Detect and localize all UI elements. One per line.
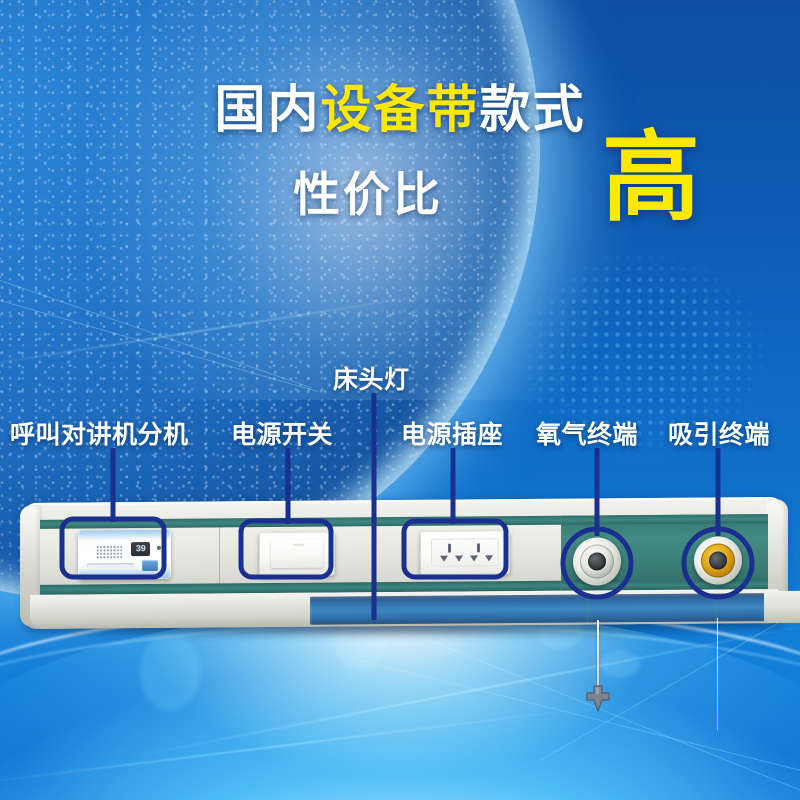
highlight-circle-suction-outlet [684, 529, 752, 597]
highlight-box-power-switch [241, 521, 331, 577]
highlight-circle-oxygen-outlet [563, 529, 631, 597]
banner-canvas: 国内设备带款式 性价比 高 呼叫对讲机分机 电源开关 床头灯 电源插座 氧气终端… [0, 0, 800, 800]
highlight-box-intercom [62, 519, 164, 577]
callout-overlay [0, 0, 800, 800]
highlight-box-power-socket [404, 521, 506, 577]
